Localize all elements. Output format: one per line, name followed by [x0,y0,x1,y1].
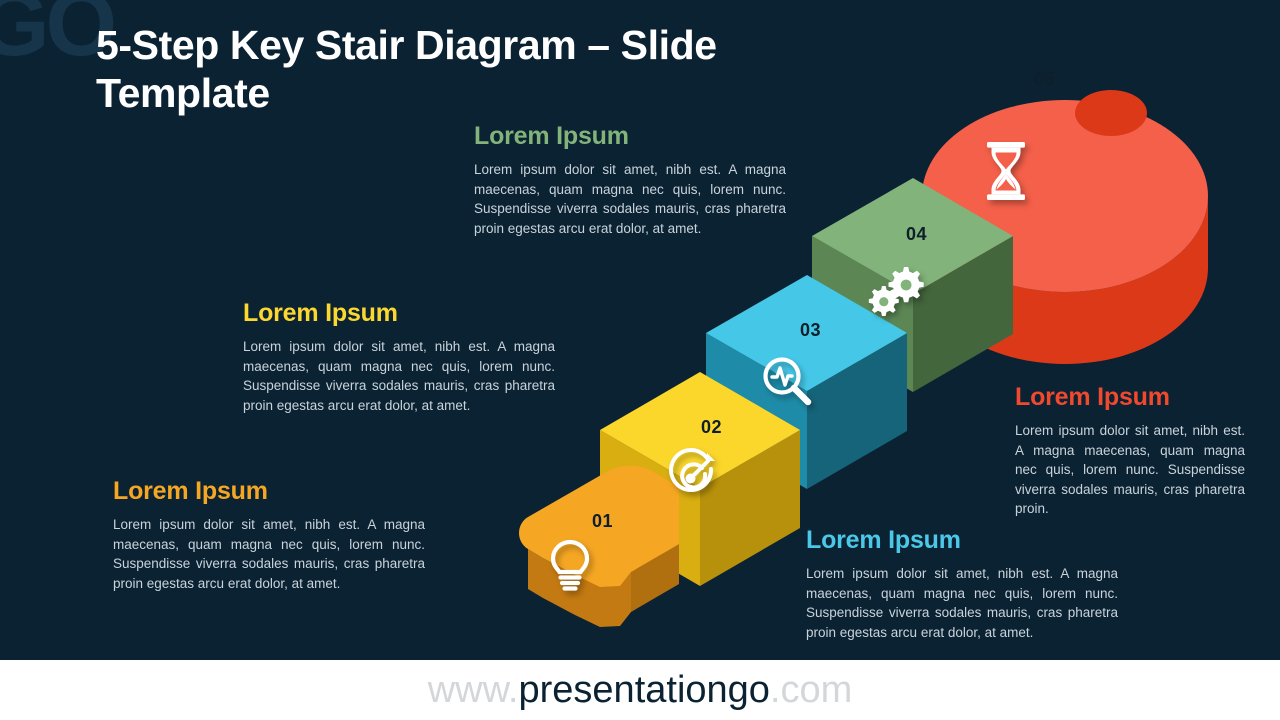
slide-canvas: GO 5-Step Key Stair Diagram – Slide Temp… [0,0,1280,660]
target-icon [663,447,719,503]
step-01-text-block: Lorem Ipsum Lorem ipsum dolor sit amet, … [113,477,425,593]
url-prefix: www. [428,669,519,711]
magnifier-pulse-icon [759,353,815,409]
gears-icon [867,263,925,317]
step-01-key-blade [519,466,679,627]
step-03-number: 03 [800,320,821,341]
step-04-body: Lorem ipsum dolor sit amet, nibh est. A … [474,160,786,238]
step-01-body: Lorem ipsum dolor sit amet, nibh est. A … [113,515,425,593]
step-02-number: 02 [701,417,722,438]
lightbulb-icon [545,536,595,594]
step-02-text-block: Lorem Ipsum Lorem ipsum dolor sit amet, … [243,299,555,415]
step-02-heading: Lorem Ipsum [243,299,555,328]
url-suffix: .com [770,669,852,711]
step-03-body: Lorem ipsum dolor sit amet, nibh est. A … [806,564,1118,642]
footer-branding: www.presentationgo.com [0,660,1280,720]
step-05-heading: Lorem Ipsum [1015,383,1245,412]
step-05-text-block: Lorem Ipsum Lorem ipsum dolor sit amet, … [1015,383,1245,519]
hourglass-icon [983,140,1029,202]
url-name: presentationgo [519,669,770,711]
step-01-heading: Lorem Ipsum [113,477,425,506]
website-url: www.presentationgo.com [428,669,853,712]
step-04-heading: Lorem Ipsum [474,122,786,151]
step-04-text-block: Lorem Ipsum Lorem ipsum dolor sit amet, … [474,122,786,238]
step-03-heading: Lorem Ipsum [806,526,1118,555]
step-05-number: 05 [1034,69,1055,90]
step-04-number: 04 [906,224,927,245]
step-05-body: Lorem ipsum dolor sit amet, nibh est. A … [1015,421,1245,519]
step-02-body: Lorem ipsum dolor sit amet, nibh est. A … [243,337,555,415]
step-01-number: 01 [592,511,613,532]
step-03-text-block: Lorem Ipsum Lorem ipsum dolor sit amet, … [806,526,1118,642]
